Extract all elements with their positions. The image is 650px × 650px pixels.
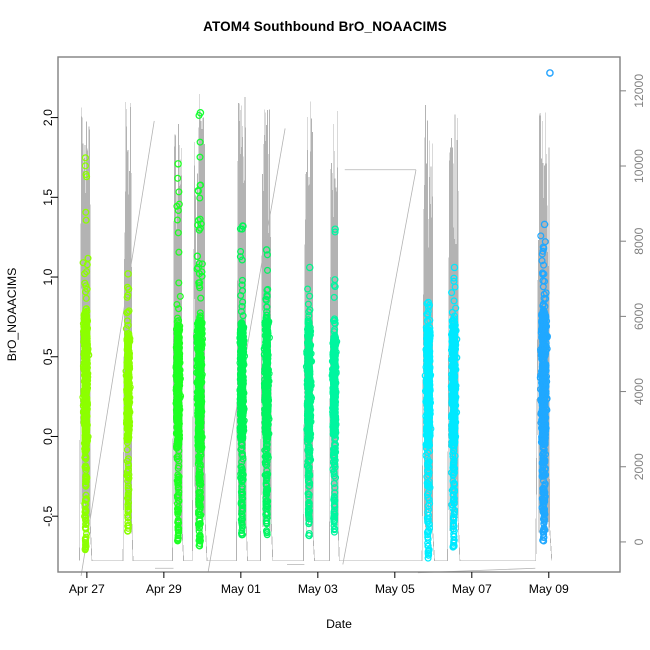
chart-container: ATOM4 Southbound BrO_NOAACIMS -0.50.00.5… xyxy=(0,0,650,650)
y2-tick-label: 10000 xyxy=(632,149,646,183)
y-tick-label: 1.5 xyxy=(41,189,55,206)
y-tick-label: 0.0 xyxy=(41,428,55,445)
y2-tick-label: 6000 xyxy=(632,303,646,330)
x-tick-label: May 05 xyxy=(375,582,415,596)
x-tick-label: Apr 29 xyxy=(146,582,182,596)
x-tick-label: May 09 xyxy=(529,582,569,596)
y-axis-label: BrO_NOAACIMS xyxy=(5,268,19,361)
y2-tick-label: 12000 xyxy=(632,74,646,108)
y-tick-label: 1.0 xyxy=(41,268,55,285)
y2-tick-label: 8000 xyxy=(632,227,646,254)
y-tick-label: -0.5 xyxy=(41,505,55,526)
y-tick-label: 0.5 xyxy=(41,348,55,365)
x-tick-label: Apr 27 xyxy=(69,582,105,596)
axis-layer: -0.50.00.51.01.52.0BrO_NOAACIMS020004000… xyxy=(5,74,646,631)
plot-frame xyxy=(58,57,620,572)
y2-tick-label: 2000 xyxy=(632,453,646,480)
x-tick-label: May 03 xyxy=(298,582,338,596)
y2-tick-label: 4000 xyxy=(632,378,646,405)
altitude-trace xyxy=(80,94,552,576)
plot-svg: -0.50.00.51.01.52.0BrO_NOAACIMS020004000… xyxy=(0,0,650,650)
x-tick-label: May 07 xyxy=(452,582,492,596)
x-tick-label: May 01 xyxy=(221,582,261,596)
x-axis-label: Date xyxy=(326,617,352,631)
y-tick-label: 2.0 xyxy=(41,109,55,126)
y2-tick-label: 0 xyxy=(632,538,646,545)
